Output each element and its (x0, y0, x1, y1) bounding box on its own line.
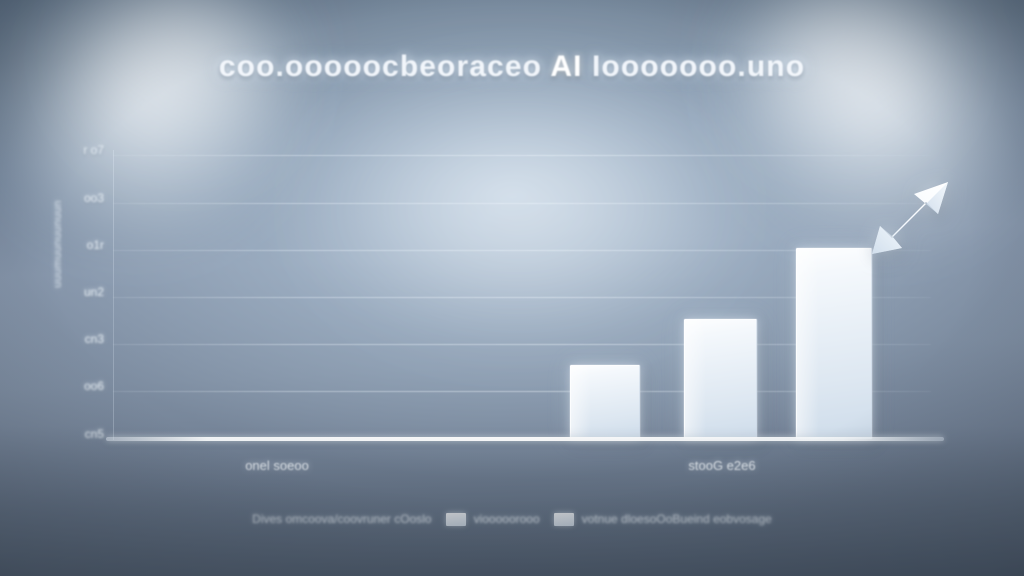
chart-title: coo.ooooocbeoraceo AI Iooooooo.uno (0, 50, 1024, 84)
bar-2 (684, 319, 757, 439)
y-axis-tick: un2 (44, 285, 104, 299)
legend-label: Dives omcoova/coovruner cOoslo (252, 512, 431, 526)
bar-1 (570, 365, 640, 439)
legend-label: viooooorooo (474, 512, 540, 526)
y-axis-tick: oo3 (44, 191, 104, 205)
legend-item: Dives omcoova/coovruner cOoslo (252, 512, 431, 526)
bar-3 (796, 248, 872, 439)
y-axis-tick: o1r (44, 238, 104, 252)
legend-swatch (554, 513, 574, 526)
y-axis-line (113, 150, 114, 440)
floor-shading (0, 426, 1024, 576)
legend-item: votnue dloesoOoBueind eobvosage (554, 512, 772, 526)
x-axis-tick: stooG e2e6 (688, 458, 755, 473)
legend-label: votnue dloesoOoBueind eobvosage (582, 512, 772, 526)
x-axis-tick: onel soeoo (245, 458, 309, 473)
upward-growth-arrow-icon (862, 178, 958, 260)
legend-item: viooooorooo (446, 512, 540, 526)
chart-title-keyword: AI (550, 50, 582, 83)
legend-swatch (446, 513, 466, 526)
y-axis-tick: r o7 (44, 143, 104, 157)
chart-legend: Dives omcoova/coovruner cOoslo vioooooro… (0, 512, 1024, 526)
y-axis-tick-group: r o7 oo3 o1r un2 cn3 oo6 cn5 (38, 150, 104, 440)
y-axis-tick: cn3 (44, 332, 104, 346)
gridline (113, 203, 931, 204)
y-axis-tick: cn5 (44, 427, 104, 441)
x-axis-line (106, 437, 944, 441)
gridline (113, 155, 931, 156)
y-axis-tick: oo6 (44, 379, 104, 393)
chart-title-prefix: coo.ooooocbeoraceo (219, 50, 542, 83)
chart-illustration: coo.ooooocbeoraceo AI Iooooooo.uno uuumu… (0, 0, 1024, 576)
chart-title-suffix: Iooooooo.uno (592, 50, 805, 83)
